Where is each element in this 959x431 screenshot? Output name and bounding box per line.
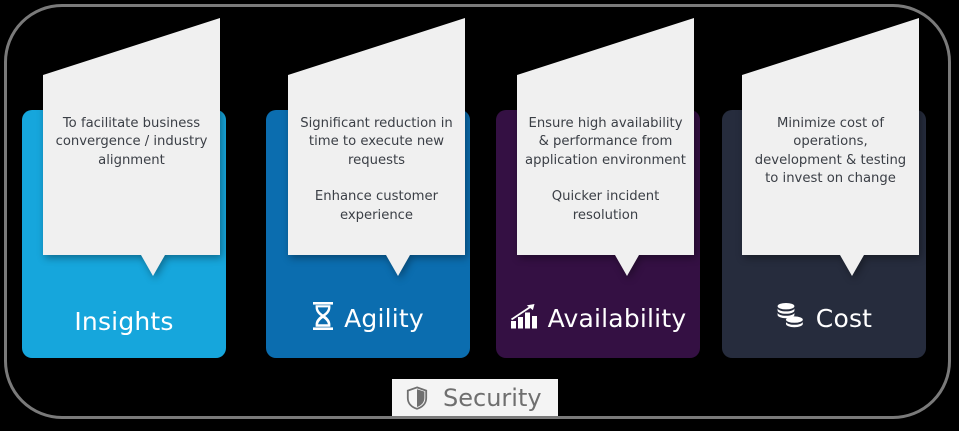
coins-icon — [776, 302, 806, 334]
diagram-canvas: Insights To facilitate business converge… — [0, 0, 959, 431]
paper-paragraph-1: Minimize cost of operations, development… — [755, 116, 906, 187]
card-title-agility: Agility — [344, 306, 424, 331]
card-title-insights: Insights — [74, 309, 173, 334]
paper-paragraph-2: Enhance customer experience — [296, 188, 457, 225]
shield-icon — [398, 379, 435, 416]
card-title-cost: Cost — [816, 306, 872, 331]
paper-text-availability: Ensure high availability & performance f… — [525, 96, 686, 244]
paper-paragraph-1: Ensure high availability & performance f… — [525, 116, 686, 168]
paper-text-insights: To facilitate business convergence / ind… — [51, 96, 212, 170]
paper-agility: Significant reduction in time to execute… — [288, 0, 465, 305]
bar-chart-growth-icon — [510, 302, 538, 334]
pillar-cards-row: Insights To facilitate business converge… — [0, 0, 959, 431]
security-label: Security — [443, 386, 542, 410]
paper-paragraph-1: To facilitate business convergence / ind… — [56, 116, 208, 168]
paper-text-cost: Minimize cost of operations, development… — [750, 96, 911, 189]
paper-availability: Ensure high availability & performance f… — [517, 0, 694, 305]
hourglass-icon — [312, 302, 334, 334]
card-label-availability: Availability — [496, 302, 700, 334]
paper-paragraph-1: Significant reduction in time to execute… — [300, 116, 453, 168]
paper-paragraph-2: Quicker incident resolution — [525, 188, 686, 225]
paper-insights: To facilitate business convergence / ind… — [43, 0, 220, 305]
security-badge[interactable]: Security — [392, 379, 558, 416]
card-label-agility: Agility — [266, 302, 470, 334]
card-title-availability: Availability — [548, 306, 687, 331]
card-label-cost: Cost — [722, 302, 926, 334]
card-label-insights: Insights — [22, 309, 226, 334]
paper-text-agility: Significant reduction in time to execute… — [296, 96, 457, 244]
paper-cost: Minimize cost of operations, development… — [742, 0, 919, 305]
